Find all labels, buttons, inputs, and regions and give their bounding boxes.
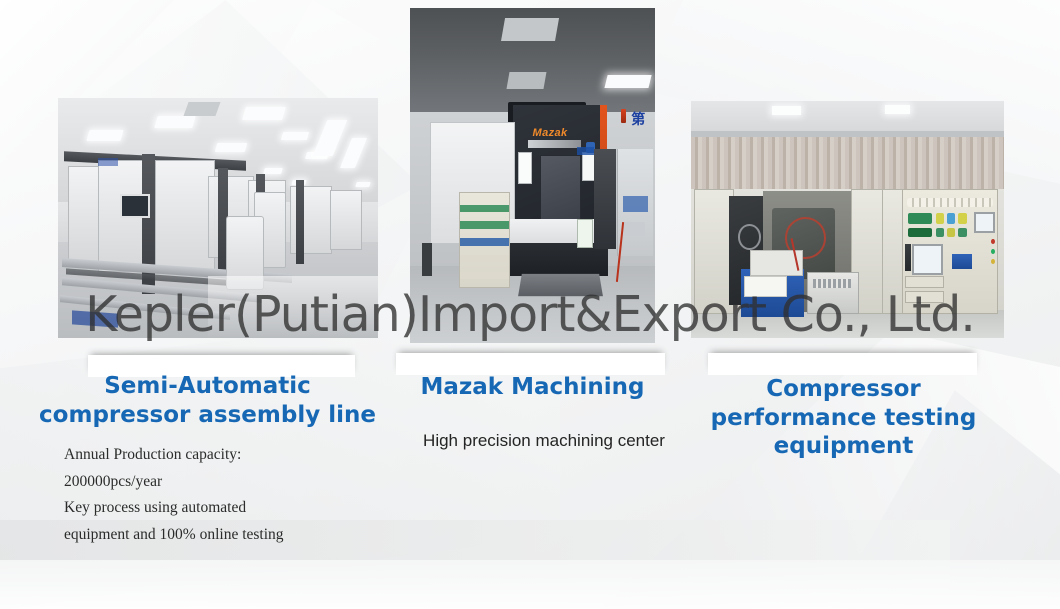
background-band — [0, 560, 1060, 609]
body-line: equipment and 100% online testing — [64, 522, 394, 549]
label-bar — [708, 353, 977, 375]
heading-line: compressor assembly line — [35, 401, 380, 430]
heading-line: equipment — [700, 432, 987, 461]
panel-body-assembly-line: Annual Production capacity: 200000pcs/ye… — [64, 442, 394, 549]
wall-sign-character: 第 — [631, 109, 645, 129]
photo-assembly-line — [58, 98, 378, 338]
label-bar — [396, 353, 665, 375]
heading-line: performance testing — [700, 404, 987, 433]
heading-line: Semi-Automatic — [35, 372, 380, 401]
panel-heading-mazak: Mazak Machining — [400, 373, 665, 402]
panel-heading-assembly-line: Semi-Automatic compressor assembly line — [35, 372, 380, 429]
heading-line: Mazak Machining — [400, 373, 665, 402]
photo-performance-testing-equipment — [691, 101, 1004, 338]
body-line: Annual Production capacity: — [64, 442, 394, 469]
photo-mazak-machining-center: Mazak — [410, 8, 655, 343]
body-line: High precision machining center — [398, 431, 690, 451]
heading-line: Compressor — [700, 375, 987, 404]
slide-root: Mazak — [0, 0, 1060, 609]
mazak-logo-text: Mazak — [533, 127, 568, 139]
panel-body-mazak: High precision machining center — [398, 431, 690, 451]
body-line: 200000pcs/year — [64, 469, 394, 496]
panel-heading-testing-equipment: Compressor performance testing equipment — [700, 375, 987, 461]
body-line: Key process using automated — [64, 495, 394, 522]
